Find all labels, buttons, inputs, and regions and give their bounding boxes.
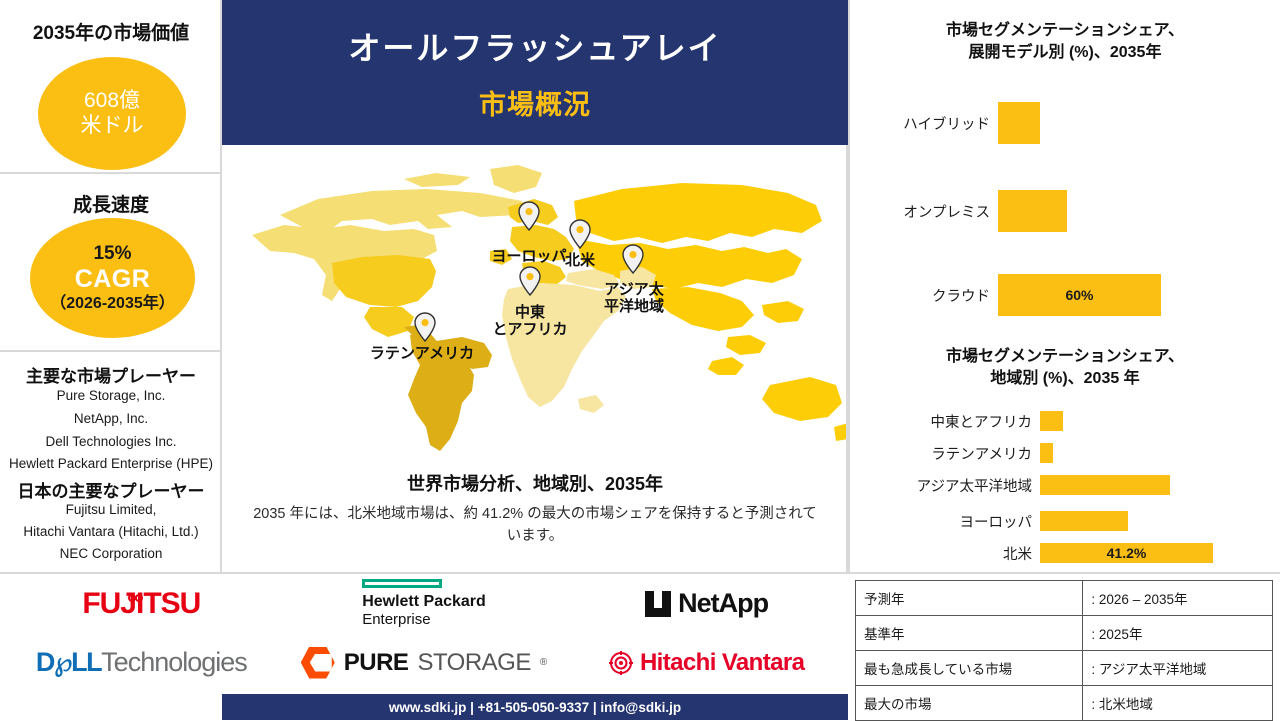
table-row: 最も急成長している市場 : アジア太平洋地域 [856, 651, 1273, 686]
region-bar [1040, 443, 1053, 463]
deployment-bar: 60% [998, 274, 1161, 316]
footer-bar: www.sdki.jp | +81-505-050-9337 | info@sd… [222, 694, 848, 720]
logo-fujitsu: FUJITSU [82, 587, 200, 621]
map-label-asia-pacific: アジア太 平洋地域 [574, 281, 694, 316]
map-panel: 北米 ヨーロッパ アジア太 平洋地域 中東 とアフリカ ラテンアメリカ 世界市場… [222, 145, 848, 572]
map-region-latin-america [404, 325, 492, 451]
market-value-title: 2035年の市場価値 [0, 18, 222, 45]
key-player-item: Hewlett Packard Enterprise (HPE) [0, 456, 222, 471]
japan-players-heading: 日本の主要なプレーヤー [0, 477, 222, 502]
cagr-label: CAGR [75, 265, 151, 295]
deployment-chart-title-line1: 市場セグメンテーションシェア、 [946, 22, 1184, 39]
key-player-item: NetApp, Inc. [0, 411, 222, 426]
logo-strip: FUJITSU Hewlett Packard Enterprise NetAp… [0, 574, 848, 692]
map-caption-body: 2035 年には、北米地域市場は、約 41.2% の最大の市場シェアを保持すると… [247, 503, 823, 548]
deployment-bar-label: クラウド [850, 285, 998, 306]
market-value-currency: 米ドル [81, 114, 144, 139]
key-players-heading: 主要な市場プレーヤー [0, 362, 222, 387]
pure-storage-mark-icon [301, 647, 335, 679]
logo-dell: D℘LL Technologies [36, 647, 247, 678]
region-chart-title-line1: 市場セグメンテーションシェア、 [946, 348, 1184, 365]
region-chart-title: 市場セグメンテーションシェア、 地域別 (%)、2035 年 [850, 346, 1280, 389]
deployment-bar [998, 102, 1040, 144]
logo-hitachi-vantara: Hitachi Vantara [609, 649, 804, 677]
spec-value: : アジア太平洋地域 [1083, 651, 1273, 686]
deployment-bar-row: オンプレミス [850, 194, 1280, 228]
deployment-chart-title: 市場セグメンテーションシェア、 展開モデル別 (%)、2035年 [850, 20, 1280, 63]
deployment-bar-row: クラウド 60% [850, 278, 1280, 312]
region-bar: 41.2% [1040, 543, 1213, 563]
table-row: 予測年 : 2026 – 2035年 [856, 581, 1273, 616]
deployment-chart-title-line2: 展開モデル別 (%)、2035年 [969, 44, 1162, 61]
region-bar [1040, 411, 1063, 431]
spec-table: 予測年 : 2026 – 2035年 基準年 : 2025年 最も急成長している… [855, 580, 1273, 721]
logo-dell-mark: D℘LL [36, 647, 101, 678]
right-charts-panel: 市場セグメンテーションシェア、 展開モデル別 (%)、2035年 ハイブリッド … [850, 0, 1280, 572]
map-region-greenland [490, 165, 542, 193]
map-caption-title: 世界市場分析、地域別、2035年 [222, 470, 848, 496]
divider-players [0, 350, 222, 352]
logo-pure-storage: PURE STORAGE ® [301, 647, 547, 679]
fujitsu-dots-icon [129, 576, 143, 610]
japan-player-item: Fujitsu Limited, [0, 502, 222, 517]
japan-player-item: Hitachi Vantara (Hitachi, Ltd.) [0, 524, 222, 539]
growth-rate-bubble: 15% CAGR （2026-2035年） [30, 218, 195, 338]
logo-netapp: NetApp [645, 588, 768, 619]
page-subtitle: 市場概況 [479, 83, 591, 122]
region-chart-title-line2: 地域別 (%)、2035 年 [990, 370, 1139, 387]
deployment-bar [998, 190, 1067, 232]
deployment-bar-value: 60% [1065, 287, 1093, 303]
spec-key: 最も急成長している市場 [856, 651, 1083, 686]
region-bar-row: ラテンアメリカ [850, 436, 1280, 470]
netapp-mark-icon [645, 591, 671, 617]
map-label-europe: ヨーロッパ [459, 248, 599, 265]
region-bar-label: ヨーロッパ [850, 511, 1040, 532]
market-value-amount: 608億 [84, 89, 140, 114]
key-player-item: Dell Technologies Inc. [0, 434, 222, 449]
logo-netapp-text: NetApp [678, 588, 768, 619]
deployment-bar-label: ハイブリッド [850, 113, 998, 134]
spec-value: : 北米地域 [1083, 686, 1273, 721]
infographic-root: 2035年の市場価値 608億 米ドル 成長速度 15% CAGR （2026-… [0, 0, 1280, 720]
market-value-bubble: 608億 米ドル [38, 57, 186, 170]
region-bar-label: ラテンアメリカ [850, 443, 1040, 464]
region-bar-label: アジア太平洋地域 [850, 475, 1040, 496]
left-sidebar: 2035年の市場価値 608億 米ドル 成長速度 15% CAGR （2026-… [0, 0, 222, 572]
map-label-latin-america: ラテンアメリカ [332, 345, 512, 362]
deployment-bar-label: オンプレミス [850, 201, 998, 222]
footer-contact-text: www.sdki.jp | +81-505-050-9337 | info@sd… [389, 700, 681, 715]
region-bar [1040, 511, 1128, 531]
region-bar-row: 中東とアフリカ [850, 404, 1280, 438]
map-label-middle-east-africa: 中東 とアフリカ [470, 304, 590, 339]
spec-value: : 2026 – 2035年 [1083, 581, 1273, 616]
region-bar-row: 北米 41.2% [850, 536, 1280, 570]
table-row: 最大の市場 : 北米地域 [856, 686, 1273, 721]
page-title: オールフラッシュアレイ [348, 23, 721, 69]
map-pin-icon-europe [518, 201, 540, 231]
map-pin-icon-asia-pacific [622, 244, 644, 274]
logo-hpe: Hewlett Packard Enterprise [362, 579, 486, 629]
cagr-period: （2026-2035年） [50, 295, 175, 314]
cagr-percent: 15% [93, 243, 131, 265]
hpe-bar-icon [362, 579, 442, 588]
logo-storage-text: STORAGE [417, 649, 530, 677]
logo-hpe-line2: Enterprise [362, 611, 486, 628]
spec-key: 基準年 [856, 616, 1083, 651]
logo-dell-text: Technologies [101, 647, 247, 678]
map-pin-icon-latin-america [414, 312, 436, 342]
spec-value: : 2025年 [1083, 616, 1273, 651]
hitachi-mark-icon [609, 651, 633, 675]
region-bar-row: ヨーロッパ [850, 504, 1280, 538]
map-pin-icon-north-america [569, 219, 591, 249]
region-bar [1040, 475, 1170, 495]
logo-hitachi-text: Hitachi Vantara [640, 649, 804, 677]
growth-rate-title: 成長速度 [0, 190, 222, 217]
map-pin-icon-middle-east-africa [519, 266, 541, 296]
region-bar-label: 中東とアフリカ [850, 411, 1040, 432]
region-bar-label: 北米 [850, 543, 1040, 564]
logo-pure-text: PURE [344, 649, 409, 677]
key-player-item: Pure Storage, Inc. [0, 388, 222, 403]
divider-kpi [0, 172, 222, 174]
table-row: 基準年 : 2025年 [856, 616, 1273, 651]
spec-key: 最大の市場 [856, 686, 1083, 721]
japan-player-item: NEC Corporation [0, 546, 222, 561]
registered-mark-icon: ® [540, 657, 547, 668]
logo-hpe-line1: Hewlett Packard [362, 593, 486, 611]
deployment-bar-row: ハイブリッド [850, 106, 1280, 140]
spec-key: 予測年 [856, 581, 1083, 616]
region-bar-value: 41.2% [1107, 545, 1147, 561]
header-banner: オールフラッシュアレイ 市場概況 [222, 0, 848, 145]
region-bar-row: アジア太平洋地域 [850, 468, 1280, 502]
